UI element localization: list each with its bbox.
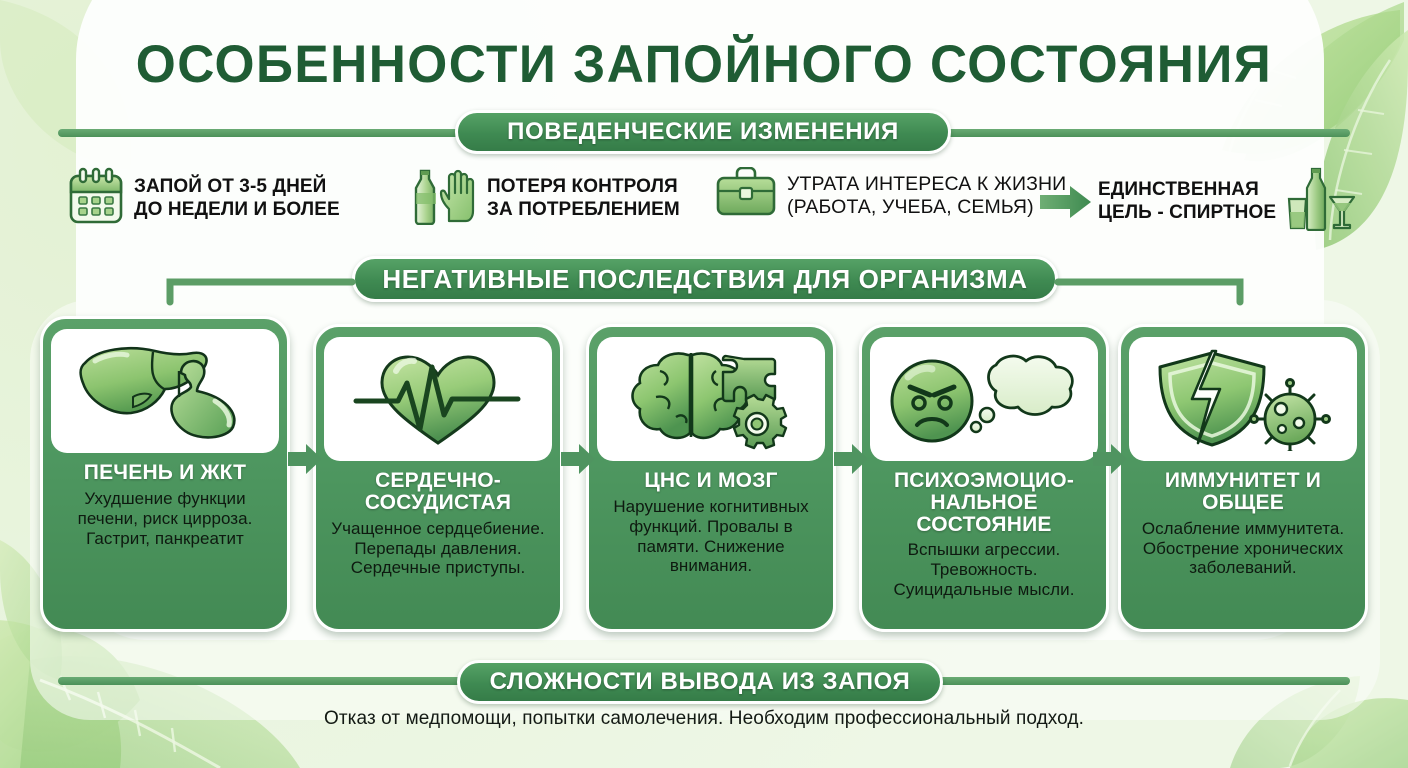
arrow-right-icon <box>1040 185 1092 219</box>
briefcase-icon <box>715 167 777 224</box>
card-arrow-icon <box>561 444 595 474</box>
card-title: ЦНС И МОЗГ <box>644 470 777 492</box>
card-body: Нарушение когнитивных функций. Провалы в… <box>599 497 823 577</box>
card-title: ПЕЧЕНЬ И ЖКТ <box>84 462 246 484</box>
card-arrow-icon <box>834 444 868 474</box>
behavior-item-control: ПОТЕРЯ КОНТРОЛЯ ЗА ПОТРЕБЛЕНИЕМ <box>405 167 680 230</box>
card-title: ИММУНИТЕТ И ОБЩЕЕ <box>1131 470 1355 514</box>
brain-gear-puzzle-icon <box>597 337 825 461</box>
behavior-items-row: ЗАПОЙ ОТ 3-5 ДНЕЙ ДО НЕДЕЛИ И БОЛЕЕ <box>0 163 1408 241</box>
section-heading-behavior: ПОВЕДЕНЧЕСКИЕ ИЗМЕНЕНИЯ <box>455 110 951 154</box>
footnote-text: Отказ от медпомощи, попытки самолечения.… <box>0 708 1408 730</box>
bottle-glasses-icon <box>1286 167 1358 236</box>
behavior-item-text: ЕДИНСТВЕННАЯ ЦЕЛЬ - СПИРТНОЕ <box>1098 179 1276 224</box>
card-title: ПСИХОЭМОЦИО-НАЛЬНОЕ СОСТОЯНИЕ <box>872 470 1096 535</box>
card-cns-brain[interactable]: ЦНС И МОЗГ Нарушение когнитивных функций… <box>586 324 836 632</box>
liver-stomach-icon <box>51 329 279 453</box>
card-body: Ослабление иммунитета. Обострение хронич… <box>1131 519 1355 579</box>
behavior-item-interest: УТРАТА ИНТЕРЕСА К ЖИЗНИ (РАБОТА, УЧЕБА, … <box>715 167 1066 224</box>
connector-line-right-top <box>938 129 1350 137</box>
behavior-item-text: ЗАПОЙ ОТ 3-5 ДНЕЙ ДО НЕДЕЛИ И БОЛЕЕ <box>134 176 340 221</box>
card-body: Ухудшение функции печени, риск цирроза. … <box>53 489 277 549</box>
behavior-item-goal: ЕДИНСТВЕННАЯ ЦЕЛЬ - СПИРТНОЕ <box>1098 167 1358 236</box>
card-cardiovascular[interactable]: СЕРДЕЧНО-СОСУДИСТАЯ Учащенное сердцебиен… <box>313 324 563 632</box>
behavior-item-text: ПОТЕРЯ КОНТРОЛЯ ЗА ПОТРЕБЛЕНИЕМ <box>487 176 680 221</box>
calendar-icon <box>68 167 124 230</box>
connector-line-right-bottom <box>932 677 1350 685</box>
card-title: СЕРДЕЧНО-СОСУДИСТАЯ <box>326 470 550 514</box>
connector-line-left-bottom <box>58 677 468 685</box>
behavior-item-text: УТРАТА ИНТЕРЕСА К ЖИЗНИ (РАБОТА, УЧЕБА, … <box>787 173 1066 219</box>
page-title: ОСОБЕННОСТИ ЗАПОЙНОГО СОСТОЯНИЯ <box>21 34 1387 95</box>
bottle-and-hand-icon <box>405 167 477 230</box>
section-heading-difficulties: СЛОЖНОСТИ ВЫВОДА ИЗ ЗАПОЯ <box>457 660 943 704</box>
card-arrow-icon <box>288 444 322 474</box>
card-immunity[interactable]: ИММУНИТЕТ И ОБЩЕЕ Ослабление иммунитета.… <box>1118 324 1368 632</box>
card-liver-gi[interactable]: ПЕЧЕНЬ И ЖКТ Ухудшение функции печени, р… <box>40 316 290 632</box>
angry-face-thought-icon <box>870 337 1098 461</box>
card-psychoemotional[interactable]: ПСИХОЭМОЦИО-НАЛЬНОЕ СОСТОЯНИЕ Вспышки аг… <box>859 324 1109 632</box>
broken-shield-virus-icon <box>1129 337 1357 461</box>
section-heading-consequences: НЕГАТИВНЫЕ ПОСЛЕДСТВИЯ ДЛЯ ОРГАНИЗМА <box>352 256 1058 302</box>
consequence-cards: ПЕЧЕНЬ И ЖКТ Ухудшение функции печени, р… <box>0 316 1408 646</box>
heart-pulse-icon <box>324 337 552 461</box>
connector-line-left-top <box>58 129 468 137</box>
card-body: Учащенное сердцебиение. Перепады давлени… <box>326 519 550 579</box>
behavior-item-duration: ЗАПОЙ ОТ 3-5 ДНЕЙ ДО НЕДЕЛИ И БОЛЕЕ <box>68 167 340 230</box>
card-body: Вспышки агрессии. Тревожность. Суицидаль… <box>872 540 1096 600</box>
card-arrow-icon <box>1093 444 1127 474</box>
